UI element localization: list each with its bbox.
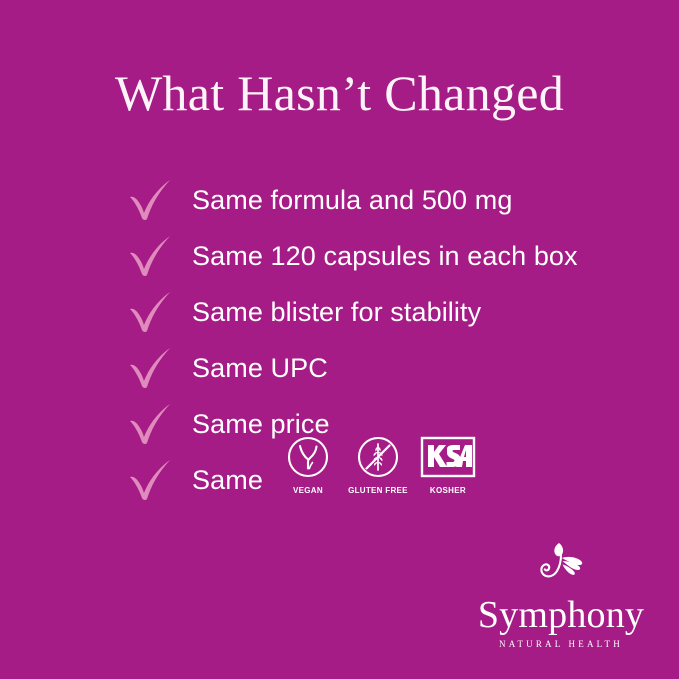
ksa-box-icon <box>417 434 479 480</box>
checkmark-icon <box>128 347 174 389</box>
poster-canvas: What Hasn’t Changed Same formula and 500… <box>0 0 679 679</box>
vegan-y-circle-icon <box>277 434 339 480</box>
list-item: Same blister for stability <box>128 284 648 340</box>
list-item: Same 120 capsules in each box <box>128 228 648 284</box>
list-item: Same formula and 500 mg <box>128 172 648 228</box>
badge-kosher: KOSHER <box>417 434 479 498</box>
checkmark-icon <box>128 235 174 277</box>
list-item-label: Same <box>192 464 263 496</box>
badge-label: VEGAN <box>293 486 323 495</box>
checkmark-icon <box>128 291 174 333</box>
leaf-spiral-icon <box>471 537 651 593</box>
badge-label: GLUTEN FREE <box>348 486 408 495</box>
logo-wordmark: Symphony <box>471 593 651 637</box>
checklist: Same formula and 500 mg Same 120 capsule… <box>128 172 648 508</box>
list-item-label: Same blister for stability <box>192 296 481 328</box>
wheat-slash-circle-icon <box>347 434 409 480</box>
list-item-label: Same formula and 500 mg <box>192 184 512 216</box>
badge-vegan: VEGAN <box>277 434 339 498</box>
badge-label: KOSHER <box>430 486 466 495</box>
checkmark-icon <box>128 459 174 501</box>
badge-gluten-free: GLUTEN FREE <box>347 434 409 498</box>
list-item-certifications: Same VEGAN <box>128 452 648 508</box>
brand-logo: Symphony NATURAL HEALTH <box>471 537 651 649</box>
logo-tagline: NATURAL HEALTH <box>471 639 651 649</box>
list-item-label: Same 120 capsules in each box <box>192 240 578 272</box>
list-item: Same UPC <box>128 340 648 396</box>
page-title: What Hasn’t Changed <box>0 62 679 124</box>
checkmark-icon <box>128 403 174 445</box>
certification-badges: VEGAN <box>277 448 479 512</box>
checkmark-icon <box>128 179 174 221</box>
list-item-label: Same UPC <box>192 352 328 384</box>
